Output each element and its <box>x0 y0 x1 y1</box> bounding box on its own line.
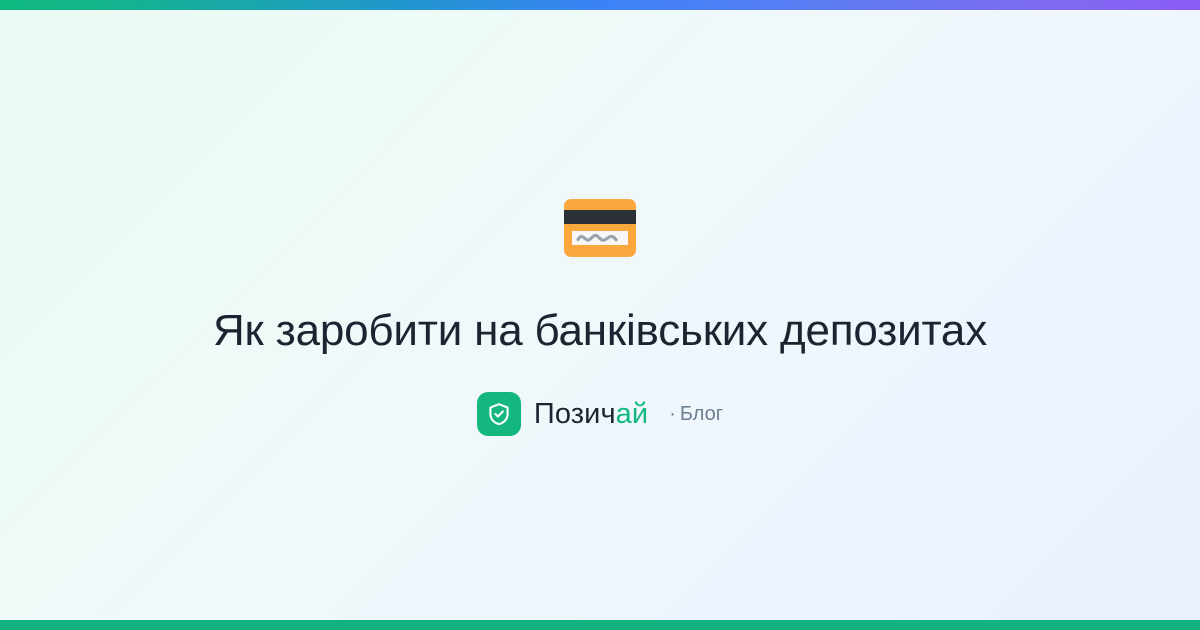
page-title: Як заробити на банківських депозитах <box>173 306 1027 357</box>
og-image-card: Як заробити на банківських депозитах Поз… <box>0 0 1200 630</box>
bottom-accent-rule <box>0 620 1200 630</box>
shield-check-icon <box>477 392 521 436</box>
brand-row[interactable]: Позичай ·Блог <box>477 392 723 436</box>
separator-dot: · <box>669 403 676 425</box>
section-name: Блог <box>680 403 723 425</box>
top-gradient-rule <box>0 0 1200 10</box>
content-stack: Як заробити на банківських депозитах Поз… <box>0 188 1200 437</box>
brand-name-accent: ай <box>616 398 649 430</box>
brand-name-prefix: Позич <box>534 398 616 430</box>
credit-card-icon <box>560 188 640 268</box>
brand-name: Позичай <box>534 400 648 429</box>
brand-section-label: ·Блог <box>669 404 723 424</box>
